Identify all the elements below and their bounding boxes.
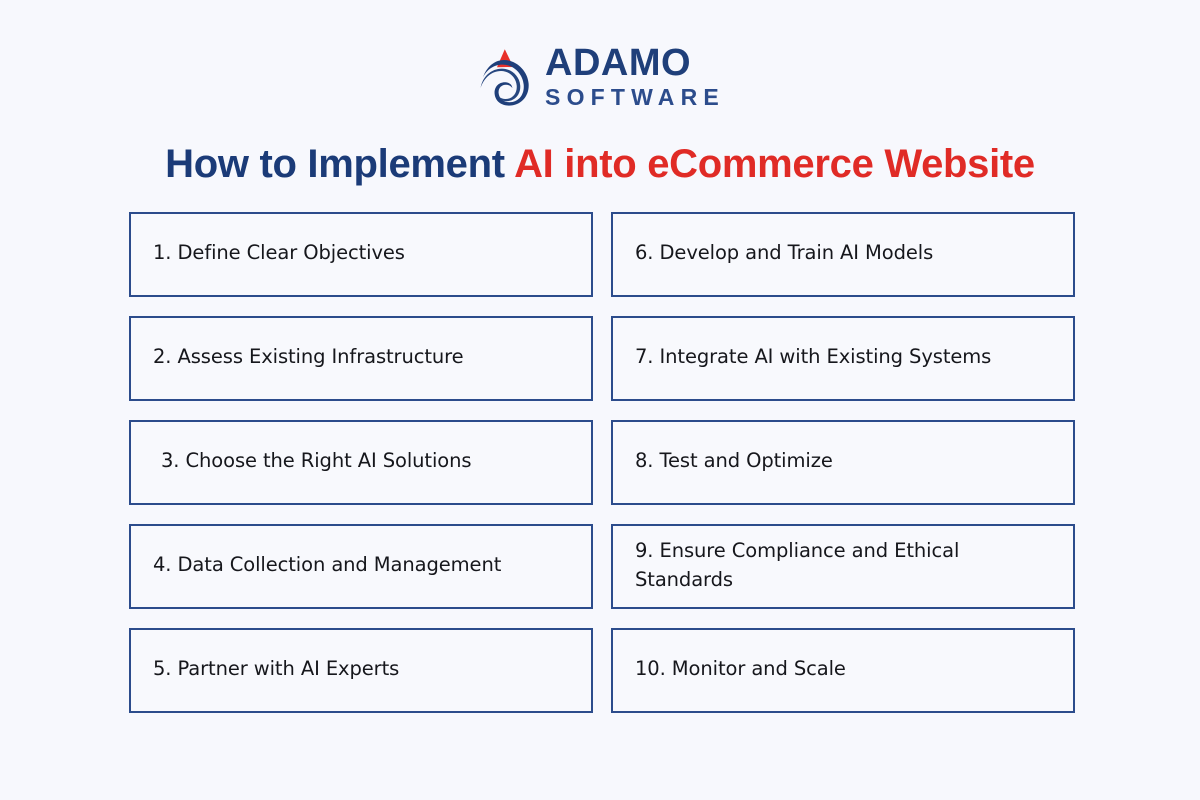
step-box-9: 9. Ensure Compliance and Ethical Standar… [611, 524, 1075, 609]
step-label-7: 7. Integrate AI with Existing Systems [635, 343, 1007, 371]
step-box-10: 10. Monitor and Scale [611, 628, 1075, 713]
adamo-swoosh-logo-icon [475, 46, 533, 108]
step-box-1: 1. Define Clear Objectives [129, 212, 593, 297]
step-box-4: 4. Data Collection and Management [129, 524, 593, 609]
step-label-5: 5. Partner with AI Experts [153, 655, 415, 683]
step-label-1: 1. Define Clear Objectives [153, 239, 421, 267]
step-box-6: 6. Develop and Train AI Models [611, 212, 1075, 297]
step-box-5: 5. Partner with AI Experts [129, 628, 593, 713]
step-box-2: 2. Assess Existing Infrastructure [129, 316, 593, 401]
page-title-part-navy: How to Implement [165, 142, 514, 186]
step-box-3: 3. Choose the Right AI Solutions [129, 420, 593, 505]
page-title: How to Implement AI into eCommerce Websi… [0, 141, 1200, 187]
step-label-2: 2. Assess Existing Infrastructure [153, 343, 480, 371]
brand-logo: ADAMO SOFTWARE [0, 44, 1200, 110]
step-label-8: 8. Test and Optimize [635, 447, 849, 475]
step-label-9: 9. Ensure Compliance and Ethical Standar… [635, 537, 1073, 594]
brand-name-secondary: SOFTWARE [545, 85, 725, 110]
step-box-8: 8. Test and Optimize [611, 420, 1075, 505]
infographic-page: ADAMO SOFTWARE How to Implement AI into … [0, 0, 1200, 800]
step-label-4: 4. Data Collection and Management [153, 551, 517, 579]
brand-wordmark: ADAMO SOFTWARE [545, 44, 725, 110]
brand-name-primary: ADAMO [545, 44, 691, 83]
page-title-part-red: AI into eCommerce Website [514, 142, 1035, 186]
steps-grid: 1. Define Clear Objectives 6. Develop an… [129, 212, 1075, 713]
step-label-3: 3. Choose the Right AI Solutions [161, 447, 487, 475]
step-label-6: 6. Develop and Train AI Models [635, 239, 949, 267]
step-label-10: 10. Monitor and Scale [635, 655, 862, 683]
step-box-7: 7. Integrate AI with Existing Systems [611, 316, 1075, 401]
